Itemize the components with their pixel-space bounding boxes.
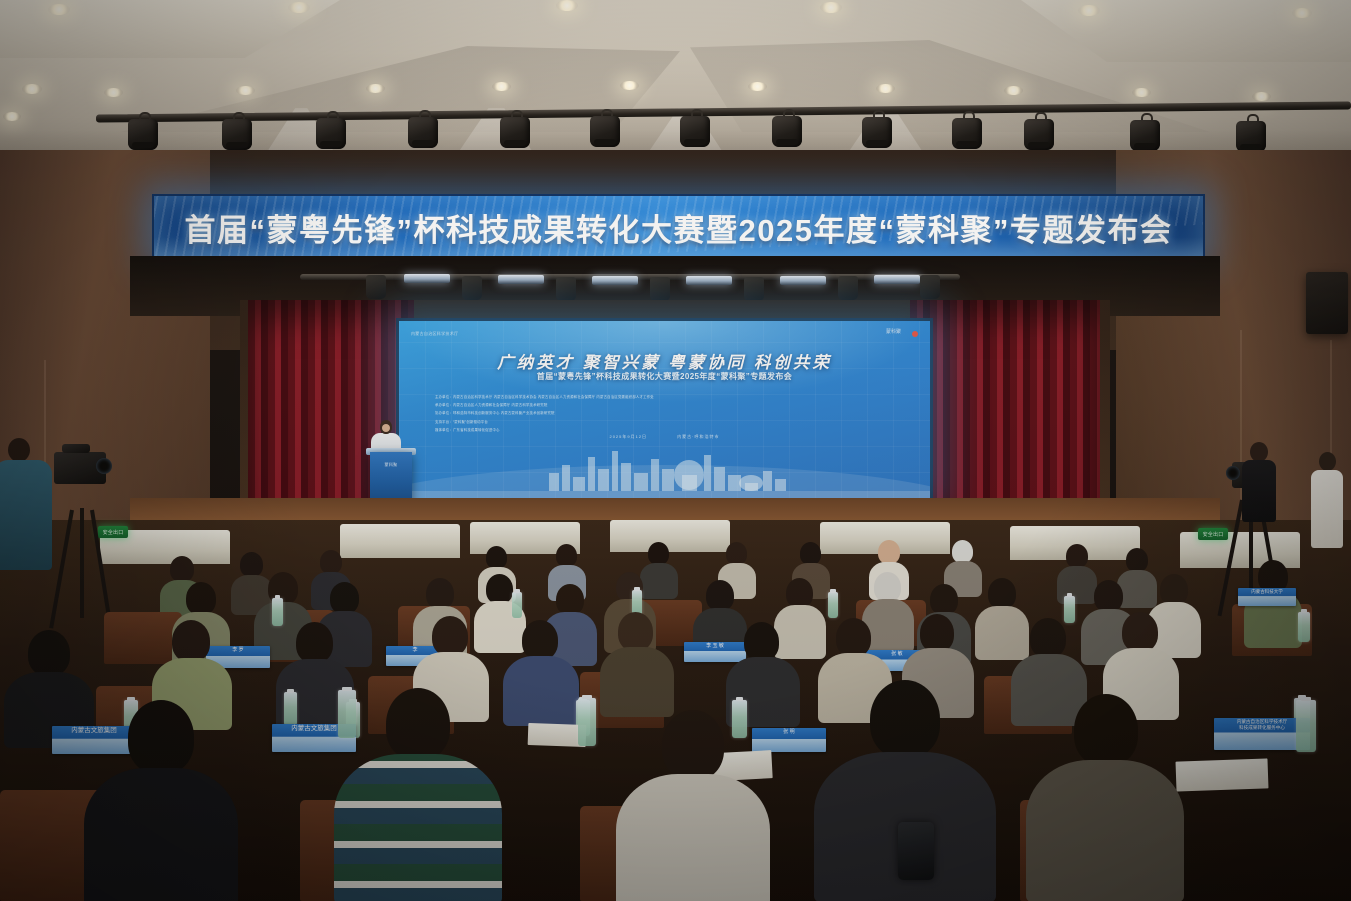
led-banner-text: 首届“蒙粤先锋”杯科技成果转化大赛暨2025年度“蒙科聚”专题发布会 (154, 196, 1203, 258)
camera-handle (62, 444, 90, 453)
stage-light (952, 111, 982, 149)
attendee-body (1311, 470, 1343, 548)
stage-bar-light (592, 276, 638, 285)
podium-label: 蒙科聚 (370, 462, 412, 468)
camera-lens (1226, 466, 1240, 480)
stage-spotlight (744, 277, 764, 301)
speaker-face (382, 424, 390, 432)
ceiling-downlight (1004, 86, 1023, 95)
ceiling-downlight (556, 0, 578, 11)
ceiling-downlight (748, 82, 767, 91)
projection-screen: 内蒙古自治区科学技术厅 蒙科聚 广纳英才 聚智兴蒙 粤蒙协同 科创共荣 首届“蒙… (399, 321, 930, 499)
stage-light (222, 112, 252, 150)
ceiling-downlight (620, 81, 639, 90)
screen-logo-left: 内蒙古自治区科学技术厅 (411, 331, 458, 337)
water-bottle (1064, 596, 1075, 623)
water-bottle (732, 700, 747, 738)
credit-line: 承办单位：内蒙古自治区人力资源和社会保障厅 内蒙古科学技术研究院 (435, 401, 895, 409)
water-bottle (578, 698, 596, 746)
water-bottle (512, 592, 522, 618)
tripod-leg (80, 508, 84, 618)
head-table (610, 520, 730, 552)
placard-text: 内蒙古文旅集团 (52, 726, 136, 735)
water-bottle (1298, 612, 1310, 642)
attendee-head (8, 438, 30, 462)
attendee-head (1319, 452, 1336, 471)
ceiling-downlight (876, 84, 895, 93)
stage-bar-light (780, 276, 826, 285)
cameraman-head (1250, 442, 1268, 462)
ceiling-downlight (22, 84, 42, 94)
camera-lens (96, 458, 112, 474)
stage-spotlight (556, 277, 576, 301)
placard-text: 李 玉 敏 (684, 642, 746, 649)
ceiling-downlight (104, 88, 123, 97)
exit-sign-label: 安全出口 (1203, 531, 1224, 538)
seat (104, 612, 182, 664)
stage-spotlight (462, 276, 482, 300)
stage-light (128, 112, 158, 150)
credit-line: 支持平台：“蒙科聚”创新驱动平台 (435, 418, 895, 426)
ceiling-downlight (366, 84, 385, 93)
stage-bar-light (686, 276, 732, 285)
exit-sign-label: 安全出口 (103, 529, 124, 536)
head-table (340, 524, 460, 558)
stage-bar-light (404, 274, 450, 283)
screen-subtitle: 首届“蒙粤先锋”杯科技成果转化大赛暨2025年度“蒙科聚”专题发布会 (399, 371, 930, 382)
water-bottle (284, 692, 297, 726)
water-bottle (1296, 700, 1316, 752)
screen-logo-right-text: 蒙科聚 (886, 329, 901, 337)
placard-text: 李 罗 (206, 646, 270, 653)
water-bottle (272, 598, 283, 626)
stage-light (1130, 113, 1160, 151)
name-placard: 李 玉 敏 (684, 642, 746, 662)
name-placard: 张 明 (752, 728, 826, 752)
stage-spotlight (838, 276, 858, 300)
ceiling-downlight (288, 2, 310, 13)
conference-hall-photo: 首届“蒙粤先锋”杯科技成果转化大赛暨2025年度“蒙科聚”专题发布会 内蒙古自治… (0, 0, 1351, 901)
stage-bar-light (498, 275, 544, 284)
stage-spotlight (920, 275, 940, 299)
logo-dot-icon (912, 331, 918, 337)
ceiling-downlight (48, 4, 70, 15)
ceiling-downlight (492, 82, 511, 91)
credit-line: 协办单位：呼和浩特市科技创新服务中心 内蒙古蒙科聚产业技术创新研究院 (435, 409, 895, 417)
ceiling-downlight (1132, 88, 1151, 97)
ceiling-downlight (236, 86, 255, 95)
skyline-graphic (399, 439, 930, 499)
placard-text: 张 明 (752, 728, 826, 735)
screen-logo-right: 蒙科聚 (886, 329, 920, 349)
stage-light (1236, 114, 1266, 152)
stage-light (680, 109, 710, 147)
exit-sign-left: 安全出口 (98, 526, 128, 538)
name-placard: 内蒙古科技大学 (1238, 588, 1296, 606)
water-bottle (828, 592, 838, 618)
cameraman-body (1242, 460, 1276, 522)
screen-headline: 广纳英才 聚智兴蒙 粤蒙协同 科创共荣 (399, 349, 930, 373)
ceiling-downlight (3, 112, 21, 121)
placard-text: 内蒙古科技大学 (1238, 588, 1296, 595)
exit-sign-right: 安全出口 (1198, 528, 1228, 540)
stage-light (772, 109, 802, 147)
stage-light (1024, 112, 1054, 150)
stage-spotlight (650, 277, 670, 301)
stage-light (862, 110, 892, 148)
smartphone (898, 822, 934, 880)
stage-light (500, 110, 530, 148)
water-bottle (338, 690, 356, 738)
stage-light (408, 110, 438, 148)
credit-line: 主办单位：内蒙古自治区科学技术厅 内蒙古自治区科学技术协会 内蒙古自治区人力资源… (435, 393, 895, 401)
stage-light (590, 109, 620, 147)
ceiling-downlight (1252, 92, 1271, 101)
stage-curtain-right (910, 300, 1100, 525)
ceiling-downlight (820, 2, 842, 13)
credit-line: 媒体单位：广东省科技成果转化促进中心 (435, 426, 895, 434)
stage-light (316, 111, 346, 149)
screen-credits: 主办单位：内蒙古自治区科学技术厅 内蒙古自治区科学技术协会 内蒙古自治区人力资源… (435, 393, 895, 434)
led-banner: 首届“蒙粤先锋”杯科技成果转化大赛暨2025年度“蒙科聚”专题发布会 (152, 194, 1205, 260)
wall-speaker (1306, 272, 1348, 334)
name-placard: 内蒙古文旅集团 (52, 726, 136, 754)
ceiling-downlight (1292, 8, 1312, 18)
attendee-body (0, 460, 52, 570)
stage-bar-light (874, 275, 920, 284)
document-paper (1176, 758, 1269, 791)
stage-spotlight (366, 275, 386, 299)
ceiling-downlight (1078, 5, 1100, 16)
